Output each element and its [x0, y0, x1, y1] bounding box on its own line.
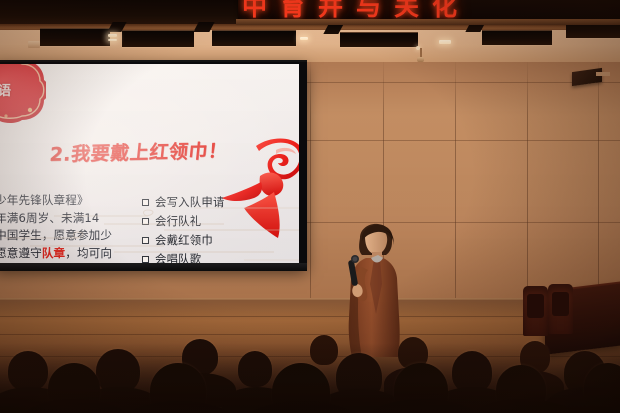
audience-head	[238, 351, 272, 387]
screen-bezel-bottom	[0, 263, 307, 271]
ceiling-light	[439, 40, 451, 44]
ceiling-vent	[122, 30, 194, 47]
red-seal-stamp: 寄语	[0, 64, 46, 124]
cloud-wave-pattern	[0, 204, 299, 264]
audience-head	[310, 335, 338, 365]
ceiling-light	[300, 37, 308, 40]
ceiling-vent	[482, 30, 552, 45]
ceiling-vent	[340, 32, 418, 47]
ceiling-vent	[40, 28, 110, 46]
presentation-slide: 寄语 2.我要戴上红领巾！ 《中国少年先锋队章程》 定，凡年满6周岁、未满14 …	[0, 64, 299, 264]
seal-label: 寄语	[0, 80, 24, 99]
wall-fixture	[28, 41, 40, 48]
wall-seam-horizontal	[305, 140, 620, 141]
slide-title: 2.我要戴上红领巾！	[48, 136, 229, 167]
ceiling-vent	[212, 30, 296, 46]
chair-back-panel	[552, 292, 569, 316]
audience-head	[584, 363, 620, 413]
audience-head	[8, 351, 48, 391]
led-banner-text: 中育并与关化	[242, 0, 470, 20]
ceiling-light	[108, 34, 117, 37]
led-banner: 中育并与关化	[238, 0, 620, 20]
ceiling-light	[108, 39, 117, 41]
downlight-head	[417, 57, 424, 62]
banner-mount	[236, 19, 620, 25]
photo-scene: 中育并与关化	[0, 0, 620, 413]
chair-back-panel	[527, 294, 544, 318]
projection-screen: 寄语 2.我要戴上红领巾！ 《中国少年先锋队章程》 定，凡年满6周岁、未满14 …	[0, 62, 307, 269]
student-audience	[0, 318, 620, 413]
wall-speaker-bracket	[596, 72, 610, 76]
